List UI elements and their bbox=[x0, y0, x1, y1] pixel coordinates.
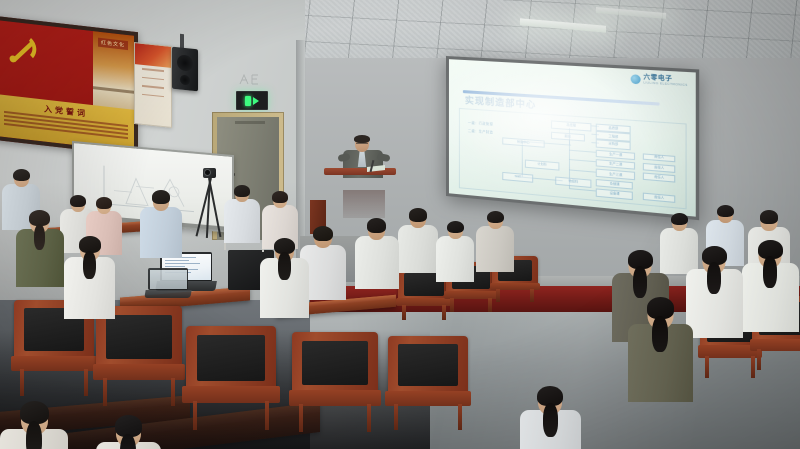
camera-tripod bbox=[196, 168, 222, 238]
flow-node-15: 责任人 bbox=[643, 163, 676, 173]
company-logo: 六零电子 LIULING ELECTRONICS bbox=[631, 74, 688, 87]
chair-backrest bbox=[388, 336, 468, 394]
chair-leg-back bbox=[530, 289, 534, 302]
person-hair bbox=[96, 197, 112, 209]
laptop-second-screen bbox=[150, 270, 187, 289]
audience-woman-white-front bbox=[64, 238, 115, 323]
audience-man-white-mid bbox=[355, 220, 399, 292]
person-torso bbox=[355, 236, 399, 289]
audience-man-white-right-mid bbox=[398, 210, 438, 276]
lectern-front-panel bbox=[343, 190, 385, 218]
chair-cushion bbox=[398, 344, 459, 386]
chair-leg-front bbox=[20, 369, 24, 396]
chair-leg-front bbox=[394, 404, 398, 430]
person-torso bbox=[436, 236, 474, 282]
lectern-top bbox=[324, 168, 396, 175]
chair-left-5[interactable] bbox=[388, 336, 468, 430]
person-ponytail bbox=[34, 224, 46, 251]
chair-cushion bbox=[106, 315, 171, 360]
wall-speaker bbox=[172, 47, 198, 92]
party-oath-poster: 红色文化 入党誓词 bbox=[0, 16, 138, 156]
laptop-second[interactable] bbox=[148, 268, 188, 298]
person-ponytail bbox=[26, 421, 43, 449]
flow-connector-v3 bbox=[522, 141, 523, 177]
flow-node-11: 计划科 bbox=[524, 160, 559, 171]
person-hair bbox=[487, 211, 504, 224]
audience-woman-ponytail-r2 bbox=[686, 248, 743, 343]
chair-leg-front bbox=[496, 289, 500, 302]
person-torso bbox=[476, 226, 514, 272]
video-camera bbox=[203, 168, 216, 178]
audience-person-bottom-left-corner bbox=[0, 404, 68, 449]
person-hair bbox=[671, 213, 688, 226]
chair-leg-front bbox=[193, 401, 197, 430]
chair-backrest bbox=[292, 332, 378, 394]
chair-leg-front bbox=[757, 349, 761, 370]
logo-mark-icon bbox=[631, 74, 641, 84]
flow-node-2: 制造中心 bbox=[503, 137, 545, 148]
chair-backrest bbox=[186, 326, 276, 390]
person-ponytail bbox=[763, 256, 777, 288]
chair-left-3[interactable] bbox=[186, 326, 276, 430]
flow-node-17: 责任人 bbox=[643, 193, 676, 203]
person-hair bbox=[70, 195, 86, 207]
presentation-slide: 六零电子 LIULING ELECTRONICS 实现制造部中心 一级：行政管理… bbox=[449, 59, 696, 217]
secondary-wall-poster bbox=[134, 42, 172, 128]
flowchart-node-group: 总经理副总制造中心品质部工程部采购部生产一课生产二课生产三课仓储课设备课计划科物… bbox=[460, 109, 686, 125]
chair-leg-front bbox=[103, 378, 107, 406]
chair-leg-back bbox=[171, 378, 175, 406]
flow-node-12: 物控科 bbox=[555, 177, 591, 188]
audience-person-bottom-center bbox=[96, 418, 161, 449]
person-ponytail bbox=[707, 262, 721, 294]
slide-flowchart: 一级：行政管理 二级：生产制造 总经理副总制造中心品质部工程部采购部生产一课生产… bbox=[459, 108, 687, 209]
flow-node-16: 责任人 bbox=[643, 173, 676, 183]
flow-connector-h2 bbox=[569, 150, 596, 153]
flowchart-legend: 一级：行政管理 二级：生产制造 bbox=[468, 120, 493, 138]
flow-node-1: 副总 bbox=[551, 131, 585, 141]
presenter-hair bbox=[354, 135, 370, 143]
tripod-leg-3 bbox=[196, 178, 212, 237]
chair-cushion bbox=[302, 341, 367, 386]
audience-woman-ponytail-r3 bbox=[742, 242, 799, 337]
person-hair bbox=[152, 190, 171, 204]
person-ponytail bbox=[278, 252, 290, 280]
audience-man-white-shirt-center bbox=[260, 240, 309, 322]
chair-cushion bbox=[197, 335, 265, 381]
chair-leg-front bbox=[402, 305, 406, 320]
chair-leg-back bbox=[458, 404, 462, 430]
logo-english-text: LIULING ELECTRONICS bbox=[643, 81, 687, 87]
flow-node-0: 总经理 bbox=[551, 120, 591, 131]
flow-node-14: 责任人 bbox=[643, 153, 676, 163]
audience-man-blue-shirt bbox=[140, 192, 182, 261]
person-torso bbox=[398, 225, 438, 273]
chair-leg-back bbox=[265, 401, 269, 430]
person-hair bbox=[717, 205, 734, 218]
presenter-glasses bbox=[356, 143, 368, 147]
person-hair bbox=[409, 208, 427, 221]
person-ponytail bbox=[633, 266, 647, 298]
flow-node-10: 设备课 bbox=[596, 188, 633, 199]
flow-connector-h3 bbox=[569, 159, 596, 162]
chair-leg-front bbox=[299, 404, 303, 432]
person-hair bbox=[313, 226, 333, 241]
flow-node-13: SMT bbox=[503, 172, 533, 182]
chair-leg-front bbox=[705, 356, 709, 378]
door-top-plate bbox=[235, 121, 265, 124]
person-torso bbox=[140, 207, 182, 258]
person-torso bbox=[224, 199, 260, 243]
person-hair bbox=[13, 169, 30, 182]
meeting-room-photo: 红色文化 入党誓词 bbox=[0, 0, 800, 449]
projection-screen: 六零电子 LIULING ELECTRONICS 实现制造部中心 一级：行政管理… bbox=[446, 56, 699, 220]
exit-arrow-icon bbox=[253, 97, 259, 105]
wall-marking-scribble bbox=[238, 72, 264, 88]
person-hair bbox=[272, 191, 288, 203]
flow-connector-h4 bbox=[569, 169, 596, 172]
laptop-second-lid bbox=[148, 268, 188, 290]
person-hair bbox=[760, 210, 779, 224]
audience-person-bottom-right bbox=[520, 388, 581, 449]
running-man-icon bbox=[245, 96, 251, 106]
audience-woman-white-mid bbox=[436, 222, 474, 285]
legend-item-0: 一级：行政管理 bbox=[468, 120, 493, 127]
person-ponytail bbox=[652, 316, 668, 352]
emergency-exit-sign bbox=[236, 91, 268, 110]
audience-woman-camo-jacket bbox=[628, 300, 693, 407]
chair-leg-back bbox=[367, 404, 371, 432]
audience-woman-dark-mid bbox=[476, 212, 514, 275]
legend-item-1: 二级：生产制造 bbox=[468, 128, 493, 135]
person-ponytail bbox=[543, 403, 558, 437]
audience-man-red-flagholder bbox=[224, 186, 260, 246]
poster2-header bbox=[135, 43, 171, 68]
laptop-second-base[interactable] bbox=[144, 290, 192, 298]
chair-left-4[interactable] bbox=[292, 332, 378, 432]
flow-node-5: 采购部 bbox=[596, 140, 631, 150]
person-hair bbox=[234, 185, 250, 197]
person-ponytail bbox=[83, 251, 96, 280]
chair-leg-back bbox=[84, 369, 88, 396]
flow-connector-h5 bbox=[569, 188, 596, 191]
chair-leg-front bbox=[450, 298, 454, 312]
person-hair bbox=[367, 218, 386, 232]
person-hair bbox=[447, 221, 464, 234]
audience-woman-olive-jacket bbox=[16, 212, 64, 291]
hammer-and-sickle-icon bbox=[6, 31, 40, 67]
